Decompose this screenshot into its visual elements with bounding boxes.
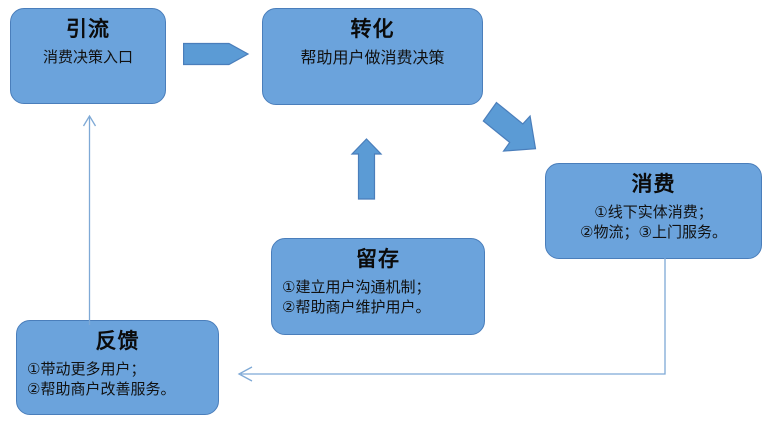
node-attract-body: 消费决策入口 [11, 48, 165, 68]
node-feedback-line-2: ②帮助商户改善服务。 [27, 380, 210, 400]
arrow-down-right-icon-convert-to-consume [480, 98, 540, 160]
node-consume-body: ①线下实体消费； ②物流；③上门服务。 [546, 203, 761, 243]
node-convert-title: 转化 [351, 18, 395, 42]
node-feedback-line-1: ①带动更多用户； [27, 360, 210, 380]
node-attract[interactable]: 引流 消费决策入口 [10, 8, 166, 104]
connector-feedback-to-attract [80, 110, 100, 326]
node-feedback-title: 反馈 [96, 330, 140, 354]
node-attract-title: 引流 [66, 18, 110, 42]
arrow-up-icon-retain-to-convert [351, 138, 383, 200]
node-consume-line-1: ①线下实体消费； [554, 203, 753, 223]
node-attract-line-1: 消费决策入口 [19, 48, 157, 68]
arrow-right-icon-attract-to-convert [183, 40, 249, 68]
node-feedback[interactable]: 反馈 ①带动更多用户； ②帮助商户改善服务。 [16, 320, 219, 415]
node-convert[interactable]: 转化 帮助用户做消费决策 [262, 8, 483, 105]
node-consume[interactable]: 消费 ①线下实体消费； ②物流；③上门服务。 [545, 163, 762, 259]
node-consume-line-2: ②物流；③上门服务。 [554, 223, 753, 243]
connector-consume-to-feedback [230, 250, 675, 382]
diagram-canvas: 引流 消费决策入口 转化 帮助用户做消费决策 消费 ①线下实体消费； ②物流；③… [0, 0, 768, 426]
node-consume-title: 消费 [632, 173, 676, 197]
node-feedback-body: ①带动更多用户； ②帮助商户改善服务。 [17, 360, 218, 400]
node-convert-line-1: 帮助用户做消费决策 [271, 48, 474, 69]
node-convert-body: 帮助用户做消费决策 [263, 48, 482, 69]
